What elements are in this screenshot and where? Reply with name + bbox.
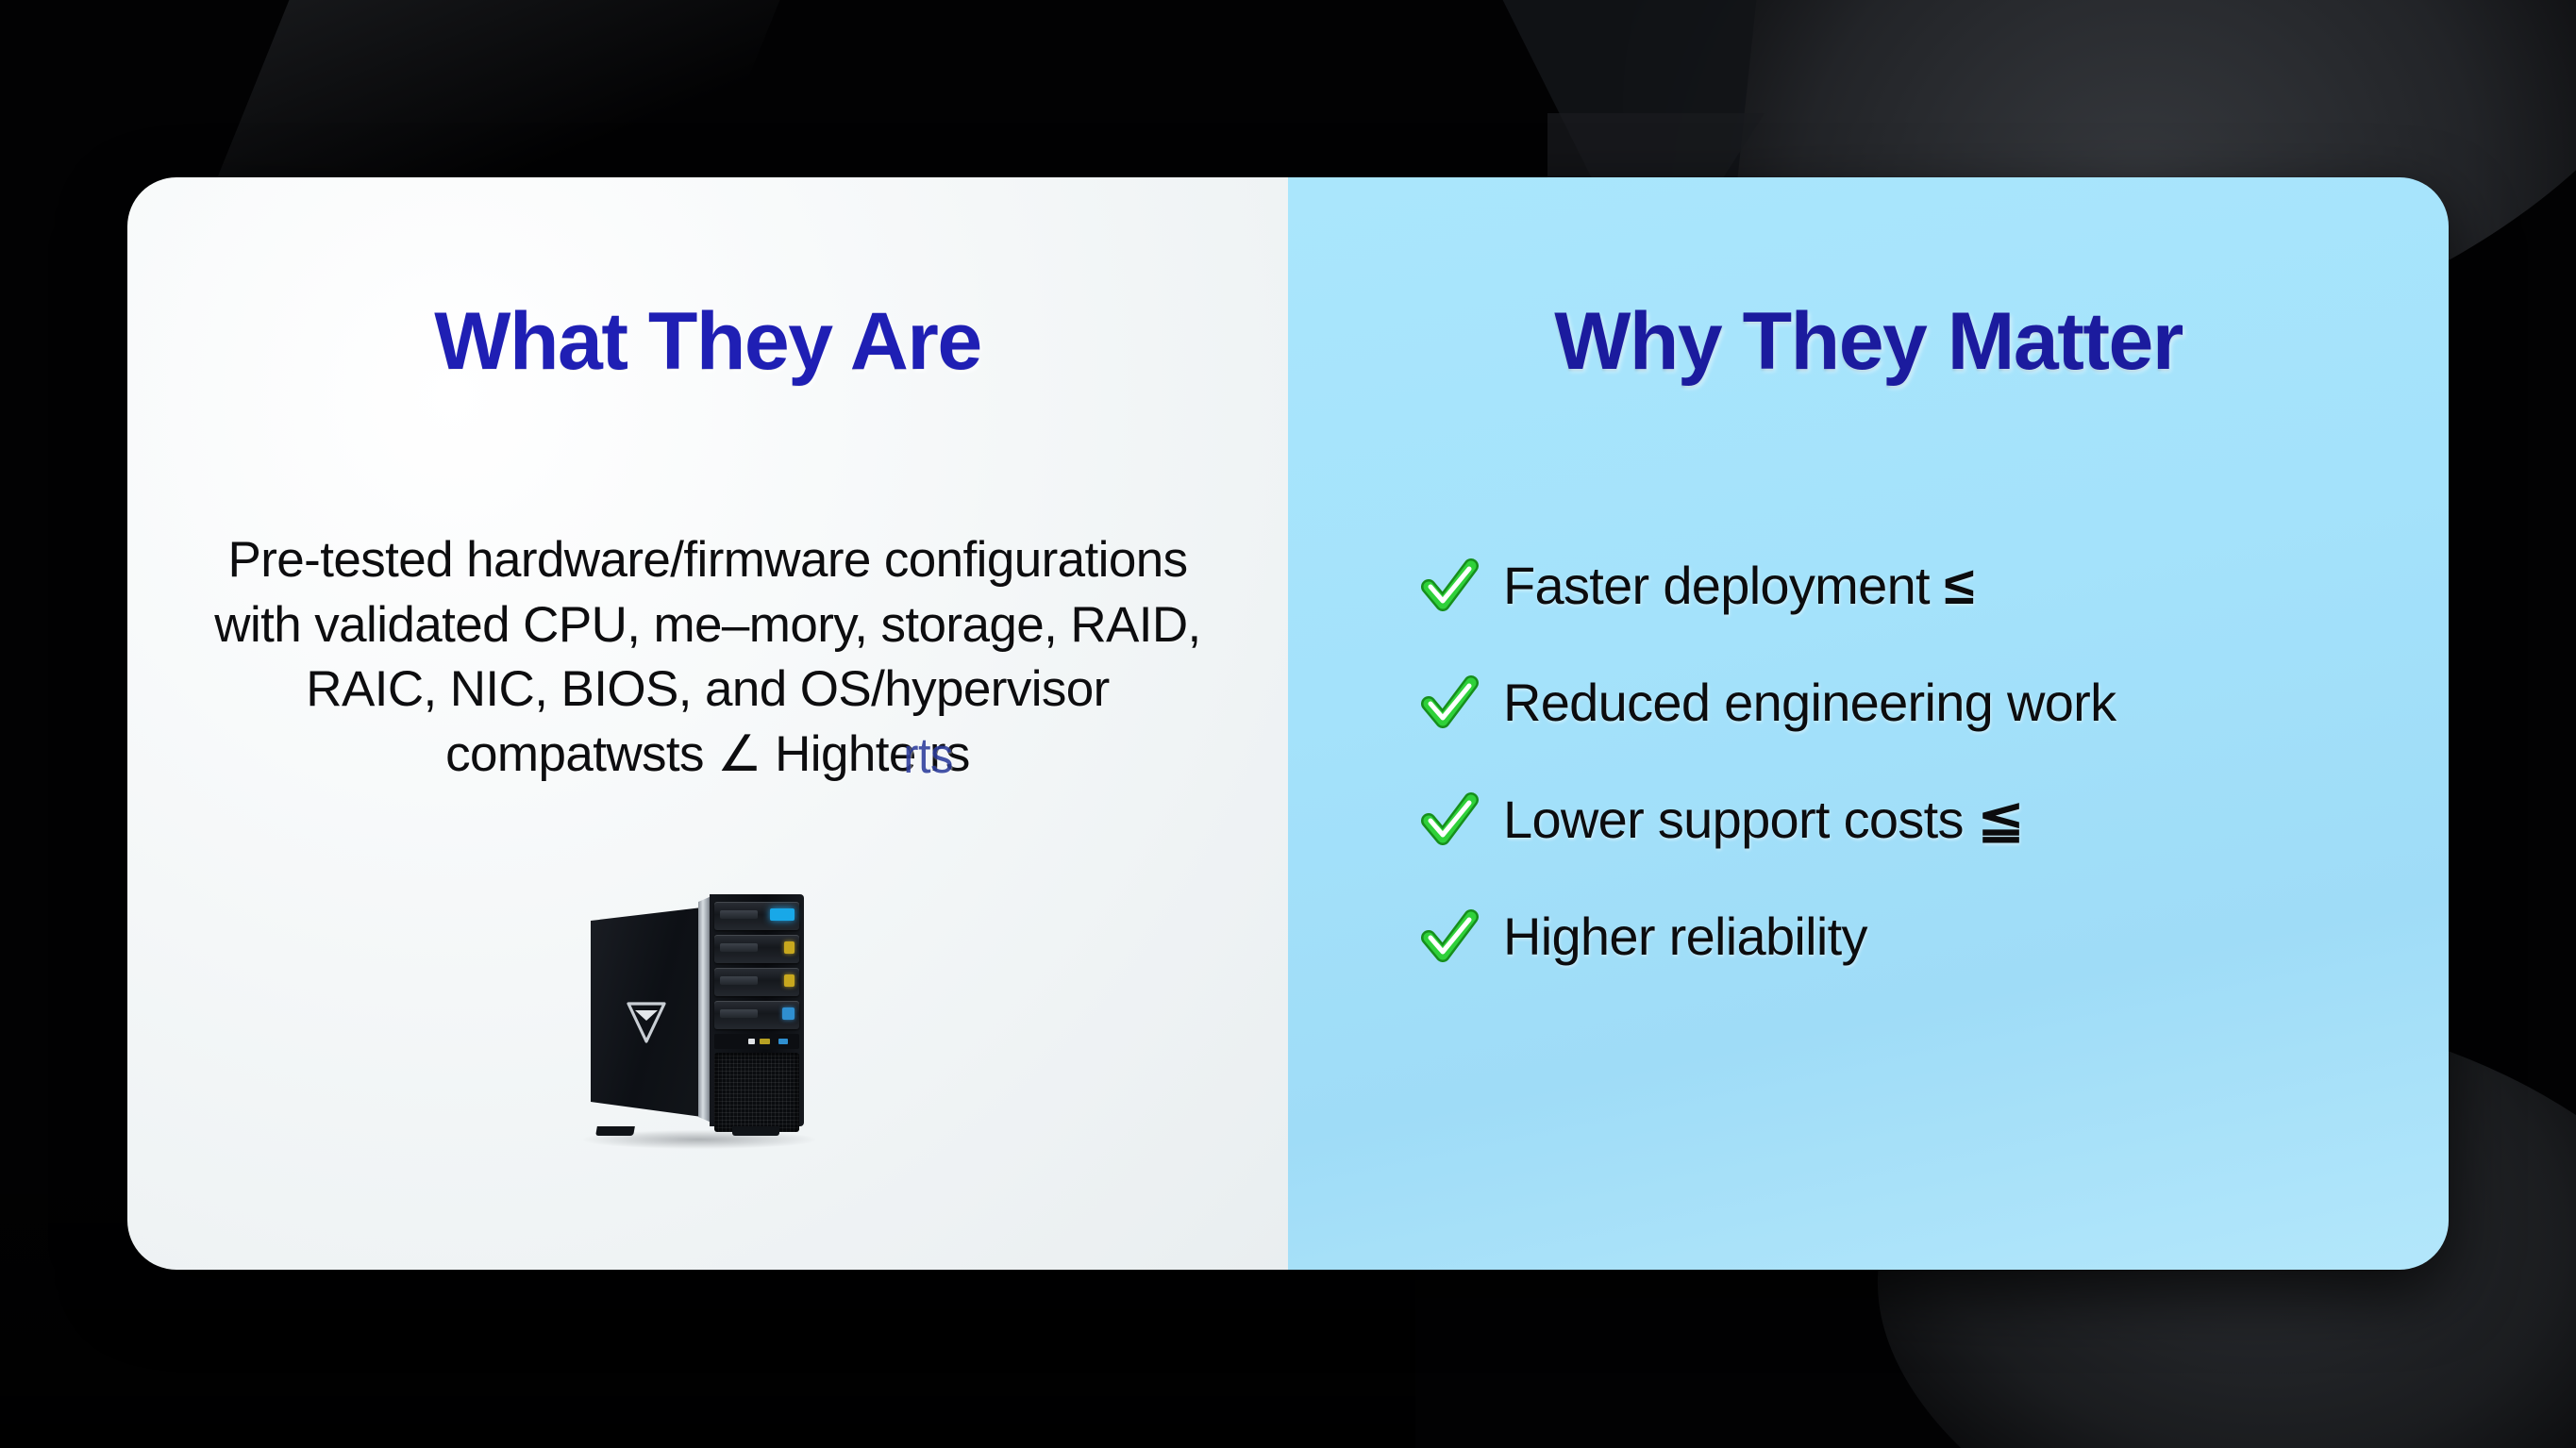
why-they-matter-panel: Why They Matter Faster deployment ≤: [1288, 177, 2449, 1270]
body-text-glitch-overlay: rts: [903, 724, 953, 790]
check-mark-icon: [1420, 791, 1479, 849]
left-panel-heading: What They Are: [434, 295, 980, 389]
check-mark-icon: [1420, 557, 1479, 615]
left-panel-body-text: Pre-tested hardware/firmware configurati…: [208, 528, 1208, 789]
list-item: Reduced engineering work: [1420, 666, 2449, 740]
drive-bay-handle: [720, 910, 758, 919]
io-led-amber: [760, 1039, 770, 1044]
server-ventilation-mesh: [714, 1053, 799, 1132]
list-item: Faster deployment ≤: [1420, 549, 2449, 623]
right-panel-heading: Why They Matter: [1554, 295, 2183, 389]
server-io-indicator-panel: [714, 1034, 799, 1049]
drive-bay-led-cyan: [782, 1007, 795, 1020]
list-item-label: Reduced engineering work: [1503, 672, 2116, 733]
diamond-chevron-logo-icon: [625, 998, 668, 1045]
body-text-main: Pre-tested hardware/firmware configurati…: [214, 532, 1200, 783]
slide-stage: What They Are Pre-tested hardware/firmwa…: [0, 0, 2576, 1448]
drive-bay: [714, 1001, 799, 1029]
list-item-trailing-glyph: ≤: [1944, 555, 1974, 616]
comparison-card: What They Are Pre-tested hardware/firmwa…: [127, 177, 2449, 1270]
benefits-list: Faster deployment ≤ Reduced engineering …: [1288, 549, 2449, 1017]
drive-bay-handle: [720, 943, 758, 952]
body-text-glitch-tail: rsrts: [929, 723, 970, 788]
list-item-label: Faster deployment: [1503, 555, 1930, 616]
drive-bay: [714, 935, 799, 963]
list-item: Higher reliability: [1420, 900, 2449, 974]
list-item-label: Higher reliability: [1503, 906, 1867, 967]
io-led-white: [748, 1039, 755, 1044]
server-front-face: [710, 894, 804, 1126]
list-item: Lower support costs ≦: [1420, 783, 2449, 857]
io-led-blue: [778, 1039, 788, 1044]
drive-bay: [714, 902, 799, 930]
check-mark-icon: [1420, 907, 1479, 966]
list-item-label: Lower support costs: [1503, 789, 1964, 850]
drive-bay-handle: [720, 976, 758, 985]
check-mark-icon: [1420, 674, 1479, 732]
what-they-are-panel: What They Are Pre-tested hardware/firmwa…: [127, 177, 1288, 1270]
drive-bay-handle: [720, 1009, 758, 1018]
drive-bay-led-blue: [770, 908, 795, 921]
drive-bay-led-amber: [784, 941, 795, 954]
drive-bay-led-amber: [784, 974, 795, 987]
server-tower-illustration: [566, 875, 849, 1149]
server-ground-shadow: [583, 1130, 815, 1149]
drive-bay: [714, 968, 799, 996]
list-item-trailing-glyph: ≦: [1978, 789, 2024, 851]
